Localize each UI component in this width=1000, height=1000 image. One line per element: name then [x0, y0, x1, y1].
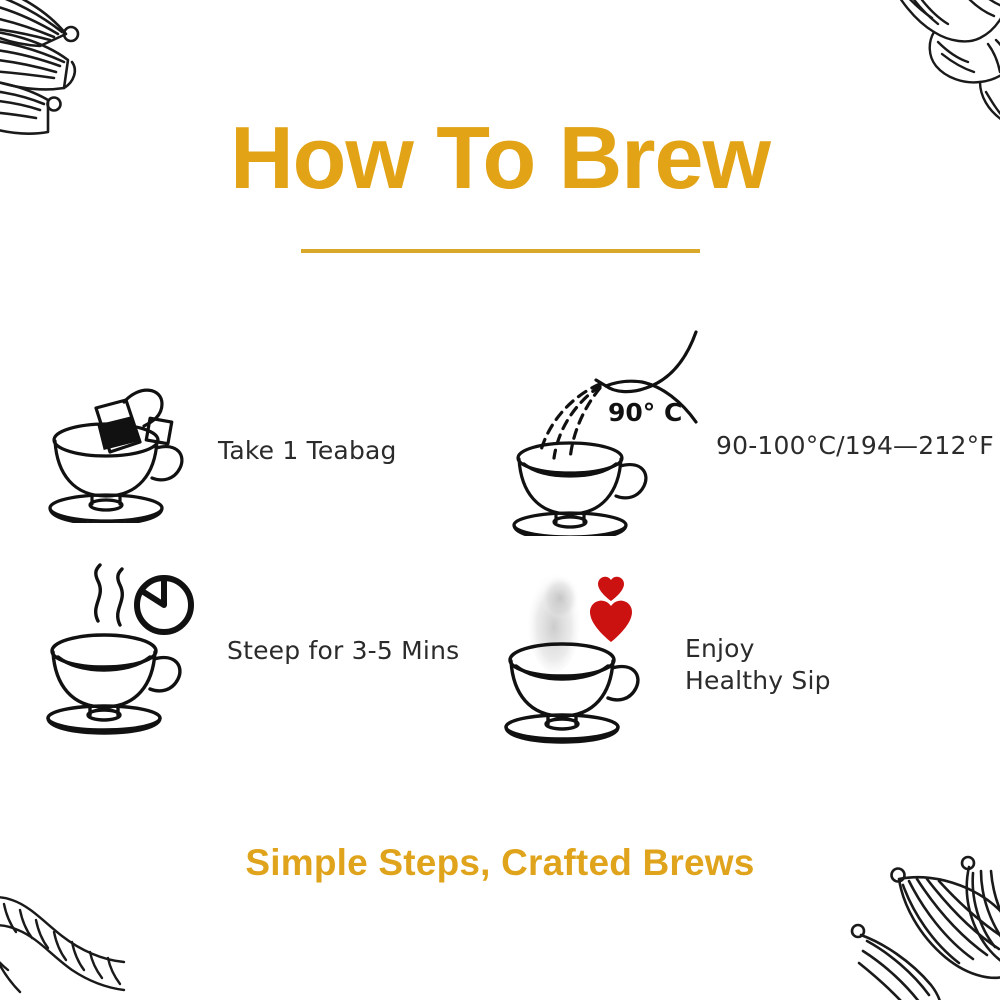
ginger-root-illustration — [0, 880, 126, 1000]
footer-tagline: Simple Steps, Crafted Brews — [0, 842, 1000, 884]
step-label: Enjoy Healthy Sip — [685, 633, 831, 697]
step-label: 90-100°C/194—212°F — [716, 430, 994, 462]
ginger-root-illustration — [876, 0, 1000, 124]
steaming-teacup-with-timer-icon — [36, 563, 211, 738]
step-enjoy: Enjoy Healthy Sip — [498, 568, 831, 748]
title-divider — [301, 249, 700, 253]
kettle-pouring-into-teacup-icon: 90° C — [500, 326, 700, 536]
step-pour-water: 90° C 90-100°C/194—212°F — [500, 326, 994, 536]
step-label: Take 1 Teabag — [218, 435, 397, 467]
steam-cloud — [528, 572, 580, 672]
step-label: Steep for 3-5 Mins — [227, 635, 459, 667]
steaming-teacup-with-hearts-icon — [498, 568, 663, 748]
teacup-with-teabag-icon — [40, 378, 200, 523]
page-title: How To Brew — [0, 114, 1000, 202]
step-steep: Steep for 3-5 Mins — [36, 563, 459, 738]
step-take-teabag: Take 1 Teabag — [40, 378, 397, 523]
brew-steps-list: Take 1 Teabag — [0, 318, 1000, 788]
how-to-brew-infographic: How To Brew — [0, 0, 1000, 1000]
temperature-badge: 90° C — [608, 398, 682, 427]
heart-shapes — [590, 577, 632, 642]
